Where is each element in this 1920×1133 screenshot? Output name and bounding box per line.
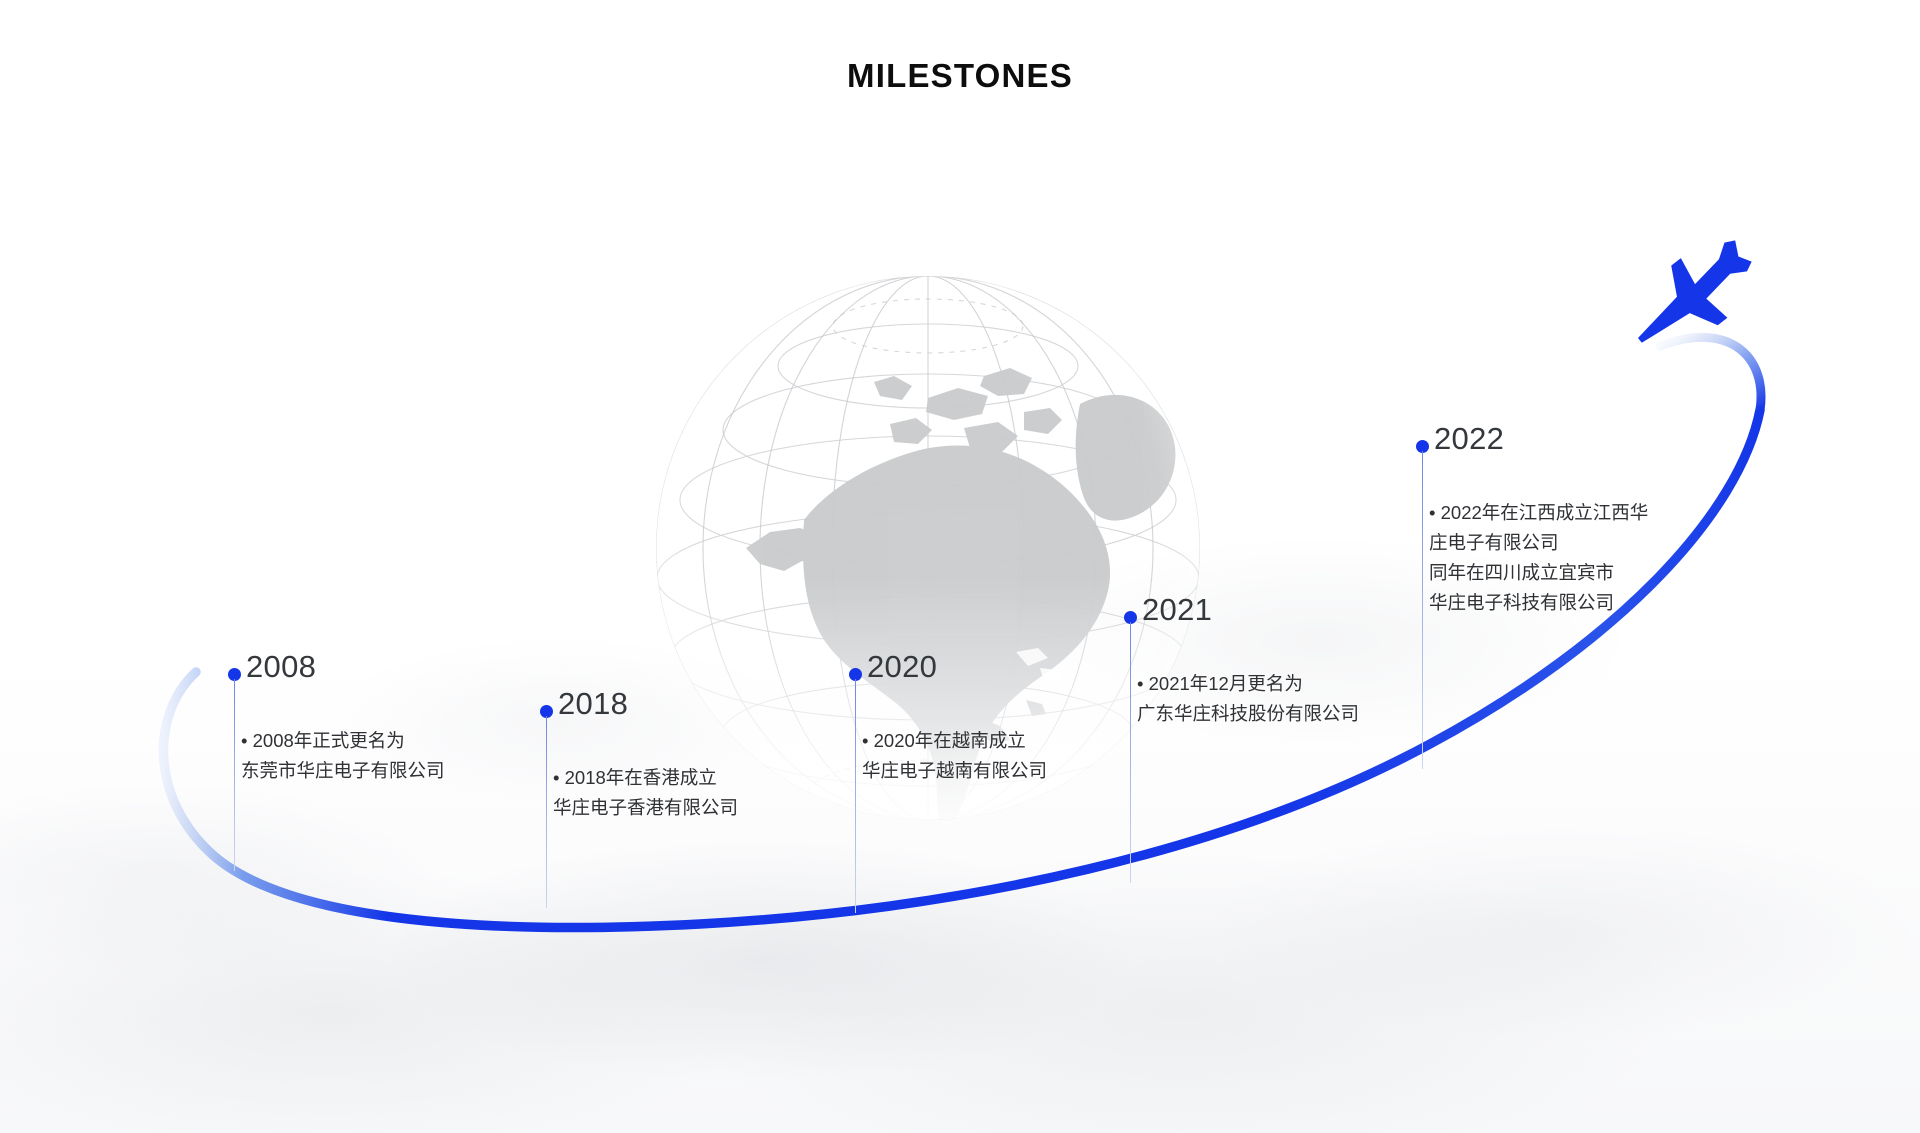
milestone-line: • 2008年正式更名为 <box>241 726 445 756</box>
milestone-line: 庄电子有限公司 <box>1429 528 1648 558</box>
milestone-line: 华庄电子科技有限公司 <box>1429 588 1648 618</box>
airplane-icon <box>1615 225 1769 369</box>
milestone-year: 2020 <box>867 649 937 685</box>
milestone-body: • 2008年正式更名为 东莞市华庄电子有限公司 <box>241 726 445 786</box>
milestone-line: 华庄电子越南有限公司 <box>862 756 1047 786</box>
milestone-line: 华庄电子香港有限公司 <box>553 793 738 823</box>
milestone-stem <box>546 716 547 908</box>
milestone-body: • 2022年在江西成立江西华 庄电子有限公司 同年在四川成立宜宾市 华庄电子科… <box>1429 498 1648 618</box>
milestone-body: • 2018年在香港成立 华庄电子香港有限公司 <box>553 763 738 823</box>
milestone-line: • 2021年12月更名为 <box>1137 669 1359 699</box>
milestone-line: • 2020年在越南成立 <box>862 726 1047 756</box>
milestones-infographic: 2008 • 2008年正式更名为 东莞市华庄电子有限公司 2018 • 201… <box>0 0 1920 1133</box>
milestone-year: 2018 <box>558 686 628 722</box>
milestone-year: 2008 <box>246 649 316 685</box>
milestone-stem <box>1422 451 1423 769</box>
milestone-line: 广东华庄科技股份有限公司 <box>1137 699 1359 729</box>
milestone-line: • 2022年在江西成立江西华 <box>1429 498 1648 528</box>
milestone-stem <box>1130 622 1131 883</box>
milestone-body: • 2020年在越南成立 华庄电子越南有限公司 <box>862 726 1047 786</box>
milestone-line: 同年在四川成立宜宾市 <box>1429 558 1648 588</box>
milestone-body: • 2021年12月更名为 广东华庄科技股份有限公司 <box>1137 669 1359 729</box>
milestone-line: 东莞市华庄电子有限公司 <box>241 756 445 786</box>
milestone-stem <box>855 679 856 913</box>
milestone-year: 2022 <box>1434 421 1504 457</box>
milestone-year: 2021 <box>1142 592 1212 628</box>
milestone-line: • 2018年在香港成立 <box>553 763 738 793</box>
page-title: MILESTONES <box>0 57 1920 95</box>
milestone-stem <box>234 679 235 871</box>
